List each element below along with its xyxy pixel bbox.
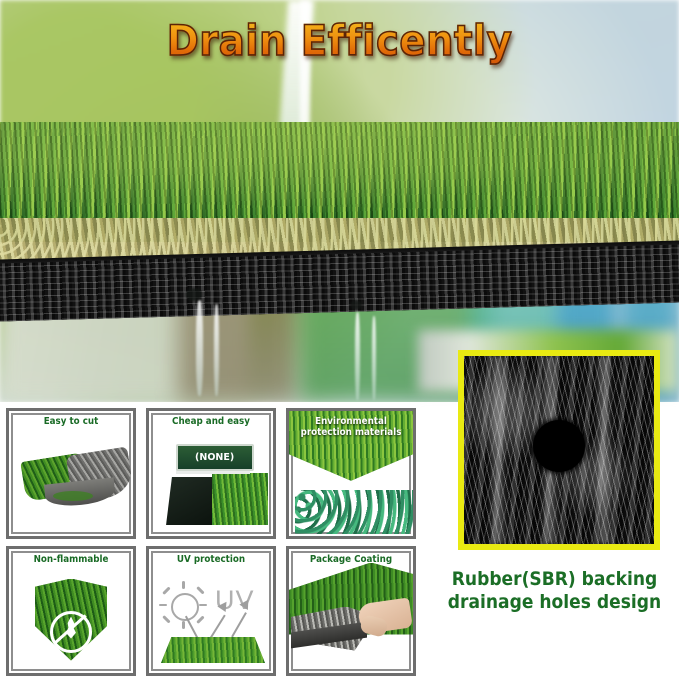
- uv-protection-illustration: UV: [149, 549, 273, 674]
- rubber-backing-photo: [464, 356, 654, 544]
- package-coating-illustration: [289, 549, 413, 674]
- turf-mat-icon: [161, 637, 265, 663]
- green-turf-sheet: [212, 473, 268, 525]
- page-title: Drain Efficently: [27, 16, 652, 65]
- rubber-caption-line-1: Rubber(SBR) backing: [442, 568, 666, 591]
- rubber-caption: Rubber(SBR) backing drainage holes desig…: [442, 568, 666, 614]
- feature-panel-package-coating[interactable]: Package Coating: [286, 546, 416, 677]
- water-drip-1: [196, 300, 203, 396]
- rubber-ridge-1: [490, 356, 506, 544]
- feature-label-non-flammable: Non-flammable: [14, 554, 128, 565]
- sun-ray-1: [182, 581, 185, 589]
- sun-ray-5: [162, 586, 170, 594]
- feature-label-package-coating: Package Coating: [294, 554, 408, 565]
- sun-ray-7: [162, 615, 170, 623]
- feature-panel-cheap-and-easy[interactable]: (NONE) Cheap and easy: [146, 408, 276, 539]
- product-feature-image: Drain Efficently Easy to cut (NONE) Chea…: [0, 0, 679, 679]
- turf-slab: [0, 122, 679, 312]
- water-drip-2: [214, 304, 219, 396]
- none-sign-text: (NONE): [195, 452, 234, 463]
- feature-panel-grid: Easy to cut (NONE) Cheap and easy Enviro…: [6, 408, 416, 676]
- water-droplet-2: [350, 300, 362, 310]
- water-drip-4: [372, 316, 376, 400]
- feature-panel-non-flammable[interactable]: Non-flammable: [6, 546, 136, 677]
- sun-ray-6: [196, 586, 204, 594]
- feature-label-easy-to-cut: Easy to cut: [14, 416, 128, 427]
- water-drip-3: [355, 312, 360, 400]
- sun-ray-8: [196, 615, 204, 623]
- feature-panel-uv-protection[interactable]: UV UV protection: [146, 546, 276, 677]
- feature-label-uv-protection: UV protection: [154, 554, 268, 565]
- sun-ray-4: [199, 604, 207, 607]
- non-flammable-illustration: [9, 549, 133, 674]
- sun-ray-3: [159, 604, 167, 607]
- turf-blade-tips: [0, 122, 679, 136]
- cheap-and-easy-illustration: (NONE): [149, 411, 273, 536]
- feature-label-environmental-materials: Environmental protection materials: [294, 416, 408, 438]
- sun-ray-2: [182, 621, 185, 629]
- feature-panel-environmental-materials[interactable]: Environmental protection materials: [286, 408, 416, 539]
- turf-roll-inner-edge: [53, 491, 93, 501]
- feature-panel-easy-to-cut[interactable]: Easy to cut: [6, 408, 136, 539]
- drainage-hole: [533, 420, 585, 472]
- none-sign: (NONE): [176, 444, 254, 471]
- recycled-pellets: [295, 490, 413, 534]
- feature-label-cheap-and-easy: Cheap and easy: [154, 416, 268, 427]
- rolled-turf-illustration: [9, 411, 133, 536]
- rubber-caption-line-2: drainage holes design: [442, 591, 666, 614]
- water-droplet-1: [186, 288, 202, 301]
- reflected-ray-arrow-1: [209, 614, 226, 639]
- rubber-photo-frame: [458, 350, 660, 550]
- rubber-ridge-3: [596, 356, 612, 544]
